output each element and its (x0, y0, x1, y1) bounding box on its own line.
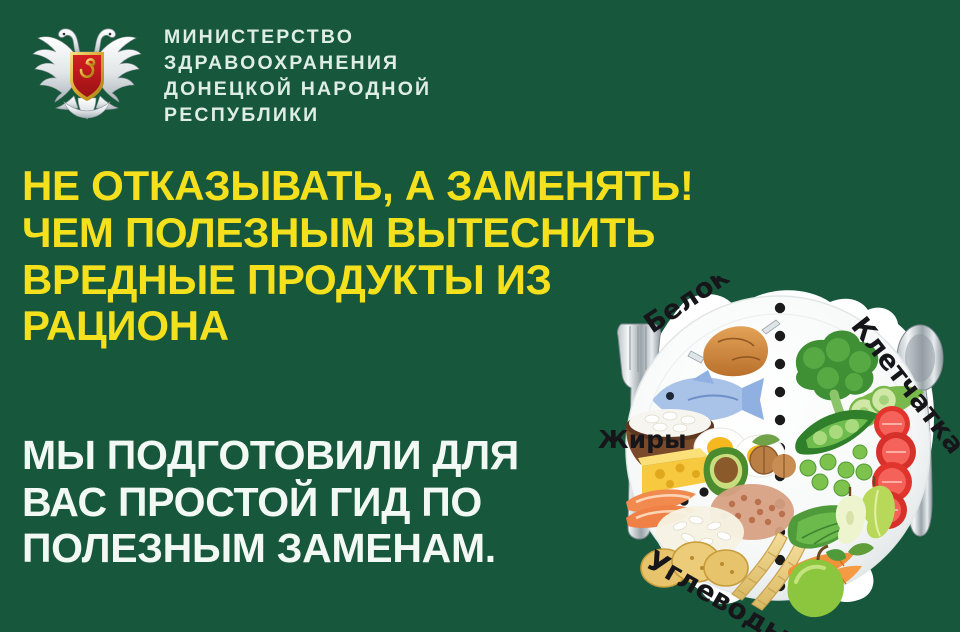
subhead-line-3: ПОЛЕЗНЫМ ЗАМЕНАМ. (22, 525, 662, 572)
ministry-line-3: ДОНЕЦКОЙ НАРОДНОЙ (164, 78, 431, 101)
headline-line-1: НЕ ОТКАЗЫВАТЬ, А ЗАМЕНЯТЬ! (22, 163, 812, 210)
poster-root: МИНИСТЕРСТВО ЗДРАВООХРАНЕНИЯ ДОНЕЦКОЙ НА… (0, 0, 960, 632)
subhead-line-2: ВАС ПРОСТОЙ ГИД ПО (22, 479, 662, 526)
ministry-line-4: РЕСПУБЛИКИ (164, 104, 431, 127)
label-fats: Жиры (598, 425, 687, 454)
subhead-line-1: МЫ ПОДГОТОВИЛИ ДЛЯ (22, 432, 662, 479)
healthy-plate-illustration: Белок Клетчатка Жиры Углеводы (592, 276, 960, 632)
subhead-block: МЫ ПОДГОТОВИЛИ ДЛЯ ВАС ПРОСТОЙ ГИД ПО ПО… (22, 432, 662, 572)
ministry-line-2: ЗДРАВООХРАНЕНИЯ (164, 52, 431, 75)
ministry-name: МИНИСТЕРСТВО ЗДРАВООХРАНЕНИЯ ДОНЕЦКОЙ НА… (164, 20, 431, 127)
ministry-header: МИНИСТЕРСТВО ЗДРАВООХРАНЕНИЯ ДОНЕЦКОЙ НА… (28, 18, 431, 128)
ministry-line-1: МИНИСТЕРСТВО (164, 26, 431, 49)
double-headed-eagle-emblem (28, 18, 146, 128)
svg-text:Жиры: Жиры (598, 425, 687, 454)
headline-line-2: ЧЕМ ПОЛЕЗНЫМ ВЫТЕСНИТЬ (22, 210, 812, 257)
